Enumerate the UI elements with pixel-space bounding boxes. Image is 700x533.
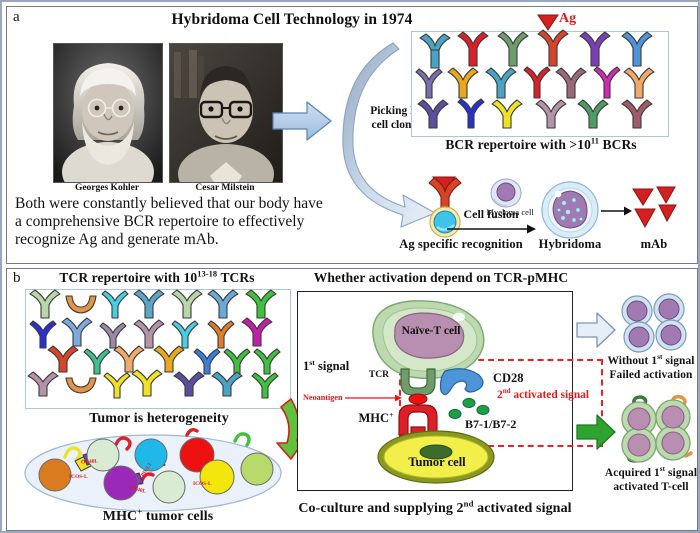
- panel-b-bottom-caption: Co-culture and supplying 2nd activated s…: [285, 501, 585, 517]
- flow-arrow-right-icon: [271, 99, 333, 143]
- tcr-title-prefix: TCR repertoire with 10: [59, 270, 197, 285]
- outcome-1-line-2: activated T-cell: [595, 481, 700, 493]
- outcome-1-post: signal: [665, 467, 697, 479]
- panel-a-caption-line-2: recognize Ag and generate mAb.: [15, 231, 345, 248]
- figure-root: a Hybridoma Cell Technology in 1974: [0, 0, 700, 533]
- bottom-caption-sup: nd: [464, 498, 474, 508]
- tumor-cell-label: Tumor cell: [391, 455, 483, 470]
- second-signal-sup: nd: [503, 387, 511, 395]
- mab-arrow-icon: [601, 205, 633, 217]
- second-signal-post: activated signal: [511, 389, 589, 401]
- outcome-0-post: signal: [663, 355, 695, 367]
- mhc-tumor-cells-label: MHC+ tumor cells: [63, 509, 253, 525]
- myeloma-cell-icon: [489, 177, 523, 209]
- neoantigen-label: Neoantigen: [303, 393, 343, 402]
- outcome-1-pre: Acquired 1: [605, 467, 660, 479]
- outcome-0-line-2: Failed activation: [597, 369, 700, 381]
- failed-activation-cells-icon: [615, 295, 691, 353]
- first-signal-post: signal: [315, 359, 349, 373]
- mab-label: mAb: [627, 237, 681, 252]
- ag-recognition-label: Ag specific recognition: [389, 237, 533, 252]
- tcr-title-suffix: TCRs: [217, 270, 254, 285]
- tcr-title-sup: 13-18: [197, 270, 217, 279]
- bcr-caption-sup: 11: [591, 137, 599, 146]
- receptor-label-icosl-1: ICOS-L: [69, 474, 88, 480]
- cell-fusion-arrow-icon: [447, 223, 537, 235]
- panel-a-caption-line-0: Both were constantly believed that our b…: [15, 195, 345, 212]
- bcr-antibody-grid: [412, 32, 666, 134]
- mhc-plus-pre: MHC: [359, 411, 390, 425]
- panel-a: a Hybridoma Cell Technology in 1974: [6, 6, 698, 264]
- outcome-0-line-1: Without 1st signal: [597, 355, 700, 367]
- panel-a-label: a: [13, 9, 20, 26]
- hybridoma-label: Hybridoma: [531, 237, 609, 252]
- hybridoma-cell-icon: [541, 181, 599, 239]
- portrait-caption-1: Cesar Milstein: [165, 183, 285, 193]
- panel-b: b TCR repertoire with 1013-18 TCRs Wheth…: [6, 268, 698, 531]
- outcome-arrow-grey-icon: [575, 309, 617, 351]
- neoantigen-arrow-icon: [345, 393, 403, 403]
- receptor-label-icosl-2: ICOS-L: [193, 481, 212, 487]
- mhc-tumor-cells-group: [21, 425, 285, 515]
- naive-t-cell-label: Naïve-T cell: [379, 325, 483, 337]
- tcr-label: TCR: [363, 369, 395, 380]
- portrait-georges-kohler: [53, 43, 163, 183]
- bottom-caption-pre: Co-culture and supplying 2: [298, 501, 463, 516]
- mhc-label-post: tumor cells: [142, 509, 213, 524]
- portrait-cesar-milstein: [169, 43, 283, 183]
- panel-a-caption-line-1: a comprehensive BCR repertoire to effect…: [15, 213, 345, 230]
- bcr-caption-suffix: BCRs: [599, 137, 637, 152]
- tcr-receptor-grid: [26, 290, 288, 406]
- outcome-0-pre: Without 1: [607, 355, 657, 367]
- receptor-label-ox40l-1: OX40L: [81, 458, 98, 465]
- outcome-arrow-green-icon: [575, 411, 617, 453]
- cd28-label: CD28: [493, 371, 541, 386]
- second-signal-label: 2nd activated signal: [497, 389, 601, 401]
- tcr-repertoire-title: TCR repertoire with 1013-18 TCRs: [29, 270, 285, 286]
- tcr-repertoire-box: [25, 289, 291, 409]
- mhc-plus-sup: +: [389, 410, 393, 419]
- bcr-caption-prefix: BCR repertoire with >10: [445, 137, 591, 152]
- portrait-caption-0: Georges Kohler: [47, 183, 167, 193]
- bcr-repertoire-box: [411, 31, 669, 137]
- outcome-1-line-1: Acquired 1st signal: [595, 467, 700, 479]
- mhc-plus-label: MHC+: [355, 411, 397, 426]
- activated-t-cells-icon: [613, 397, 697, 463]
- cell-fusion-label: Cell fusion: [443, 207, 539, 222]
- panel-b-label: b: [13, 270, 21, 287]
- bcr-repertoire-caption: BCR repertoire with >1011 BCRs: [417, 137, 665, 153]
- mab-triangles-icon: [631, 185, 677, 231]
- panel-a-title: Hybridoma Cell Technology in 1974: [127, 11, 457, 29]
- antigen-triangle-icon: [537, 13, 559, 31]
- mhc-label-pre: MHC: [103, 509, 138, 524]
- antigen-label: Ag: [559, 11, 599, 27]
- center-title: Whether activation depend on TCR-pMHC: [291, 270, 591, 286]
- bottom-caption-post: activated signal: [474, 501, 572, 516]
